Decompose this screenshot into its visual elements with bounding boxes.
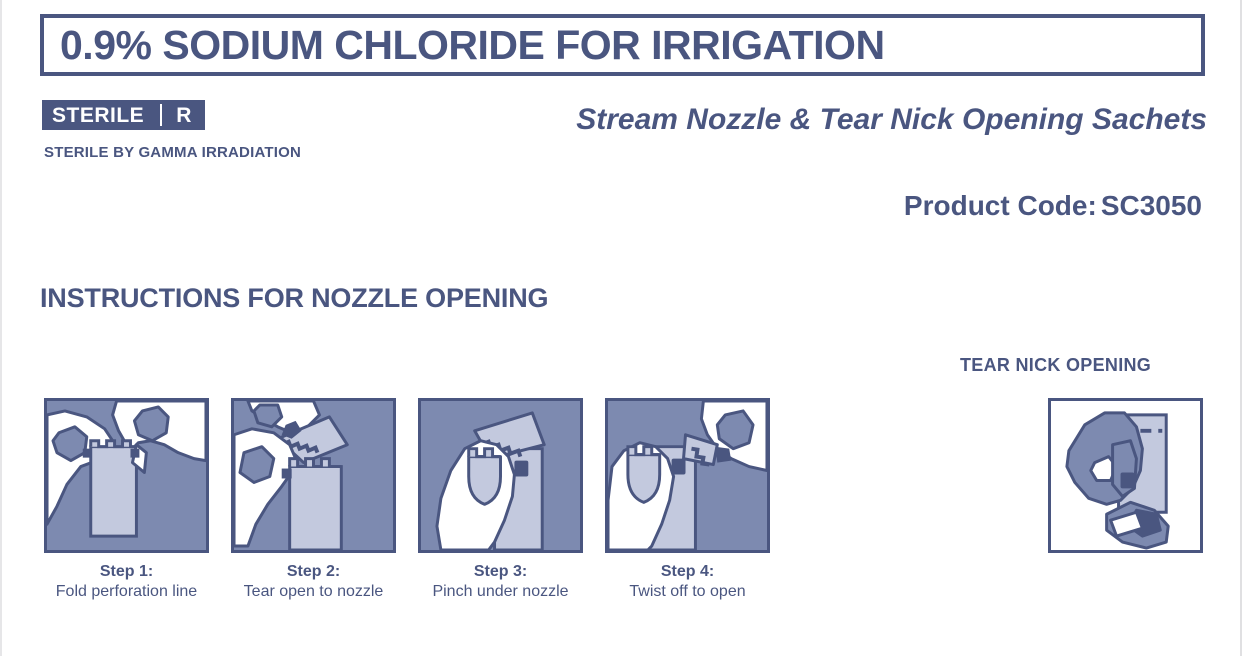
step-3-caption: Step 3: Pinch under nozzle — [418, 562, 583, 602]
step-1-caption: Step 1: Fold perforation line — [44, 562, 209, 602]
sterile-badge-label: STERILE — [42, 105, 160, 126]
product-code-label: Product Code: — [904, 190, 1097, 221]
step-2-illustration — [231, 398, 396, 553]
product-code: Product Code:SC3050 — [904, 190, 1202, 222]
document-subtitle: Stream Nozzle & Tear Nick Opening Sachet… — [462, 103, 1207, 137]
step-1-illustration — [44, 398, 209, 553]
step-3-title: Step 3: — [418, 562, 583, 582]
step-2-title: Step 2: — [231, 562, 396, 582]
step-2-caption: Step 2: Tear open to nozzle — [231, 562, 396, 602]
sterile-badge: STERILE R — [42, 100, 205, 130]
step-3-illustration — [418, 398, 583, 553]
step-4-description: Twist off to open — [605, 582, 770, 602]
step-1-title: Step 1: — [44, 562, 209, 582]
step-4-title: Step 4: — [605, 562, 770, 582]
title-banner: 0.9% SODIUM CHLORIDE FOR IRRIGATION — [40, 14, 1205, 76]
step-3-description: Pinch under nozzle — [418, 582, 583, 602]
step-4: Step 4: Twist off to open — [605, 398, 770, 602]
section-heading-tear-nick: TEAR NICK OPENING — [960, 355, 1151, 376]
step-4-caption: Step 4: Twist off to open — [605, 562, 770, 602]
step-2: Step 2: Tear open to nozzle — [231, 398, 396, 602]
step-1-description: Fold perforation line — [44, 582, 209, 602]
sterile-badge-symbol: R — [162, 105, 205, 126]
document-page: 0.9% SODIUM CHLORIDE FOR IRRIGATION STER… — [0, 0, 1242, 656]
step-1: Step 1: Fold perforation line — [44, 398, 209, 602]
tear-nick-illustration — [1048, 398, 1203, 553]
product-code-value: SC3050 — [1101, 190, 1202, 221]
page-title: 0.9% SODIUM CHLORIDE FOR IRRIGATION — [44, 25, 885, 66]
sterile-method-note: STERILE BY GAMMA IRRADIATION — [44, 144, 301, 161]
instruction-steps: Step 1: Fold perforation line — [44, 398, 770, 602]
section-heading-nozzle-opening: INSTRUCTIONS FOR NOZZLE OPENING — [40, 283, 548, 314]
step-4-illustration — [605, 398, 770, 553]
step-2-description: Tear open to nozzle — [231, 582, 396, 602]
step-3: Step 3: Pinch under nozzle — [418, 398, 583, 602]
